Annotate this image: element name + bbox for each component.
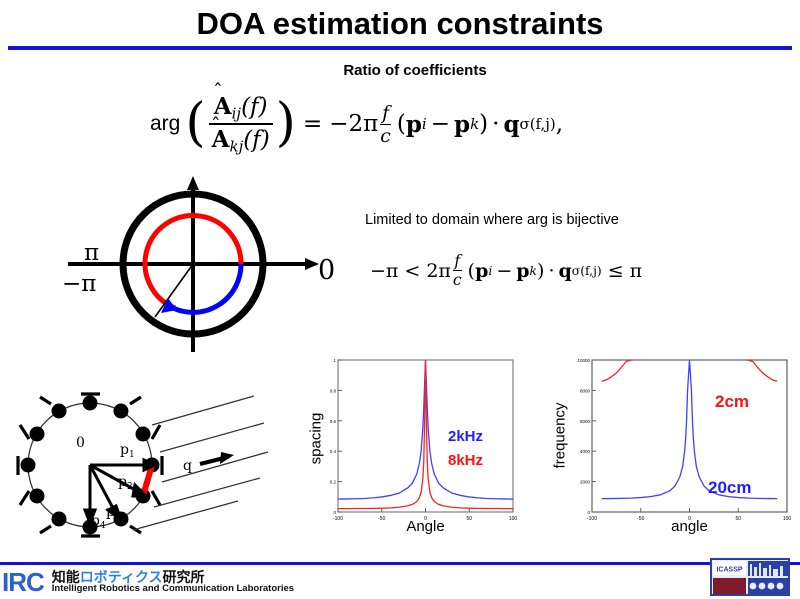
q-symbol: q [503,111,519,138]
negative-phase-arc [173,264,241,312]
frequency-chart: -100-500501000200040006000800010000 angl… [530,352,798,550]
spacing-legend-2khz: 2kHz [448,428,483,445]
p-i-symbol: p [406,111,422,138]
badge-bridge-icon [748,578,788,594]
slide-root: DOA estimation constraints Ratio of coef… [0,0,800,599]
footer-jp-part2: ロボティクス [80,569,163,585]
circle-label-zero: 0 [318,255,335,286]
wave-vector-label: q [183,458,192,474]
footer-jp-part1: 知能 [52,569,80,585]
arg-operator: arg [150,112,180,136]
p-k-subscript-2: k [530,264,537,278]
spacing-legend-8khz: 8kHz [448,452,483,469]
icassp-badge: ICASSP [710,558,790,596]
vector-label-p4: p4 [91,513,106,531]
footer-japanese-name: 知能ロボティクス研究所 [52,570,294,585]
a-hat-ij: ̂ A [214,93,232,120]
spacing-chart-ylabel: spacing [308,379,325,499]
title-divider [8,46,792,50]
denominator-subscript: kj [230,137,244,155]
frequency-chart-ylabel: frequency [552,371,569,501]
vector-minus: − [431,111,450,137]
svg-text:4000: 4000 [580,449,591,454]
wave-direction-arrow [200,452,234,464]
frequency-plot-frame [592,360,787,512]
p-i-subscript: i [422,115,427,133]
section-heading: Ratio of coefficients [285,62,545,79]
p-i-subscript-2: i [488,264,492,278]
less-than-sign: < [404,260,420,282]
close-paren: ) [276,108,296,139]
p-k-symbol-2: p [516,260,529,282]
svg-text:0.4: 0.4 [330,449,337,454]
vector-open: ( [397,111,406,137]
vector-open-2: ( [468,260,475,282]
svg-text:0: 0 [587,510,590,515]
trailing-comma: , [556,111,563,137]
minus-two-pi: −2π [329,111,378,137]
svg-text:8000: 8000 [580,388,591,393]
p-k-subscript: k [470,115,479,133]
vector-close-2: ) [537,260,544,282]
vector-close: ) [479,111,488,137]
equals-sign: = [303,111,322,137]
footer-english-name: Intelligent Robotics and Communication L… [52,584,294,594]
microphone-array-diagram: q 0 p1 p2 p3 p4 [2,392,302,552]
ratio-numerator: ̂ Aij(f) [211,93,271,123]
svg-text:0.6: 0.6 [330,419,337,424]
c-denominator: c [380,124,391,147]
vector-label-p2: p2 [118,474,133,492]
circle-label-pi: π [84,240,99,266]
f-over-c-fraction-2: f c [453,252,462,289]
q-subscript: σ(f,j) [520,115,556,133]
frequency-legend-20cm: 20cm [708,478,751,498]
svg-text:0.2: 0.2 [330,480,337,485]
vertical-axis-arrow [187,176,199,190]
spacing-chart: -100-5005010000.20.40.60.81 Angle spacin… [300,352,525,550]
badge-skyline-icon [748,561,788,576]
main-equation: arg ( ̂ Aij(f) ̂ Akj(f) ) = −2π f c (pi … [150,88,670,160]
upper-bound: π [630,260,643,282]
svg-text:1: 1 [333,358,336,363]
open-paren: ( [185,108,205,139]
ratio-denominator: ̂ Akj(f) [209,123,273,155]
dot-product-operator-2: · [548,260,554,282]
svg-text:10000: 10000 [577,358,590,363]
numerator-argument: (f) [241,94,267,120]
footer-jp-part3: 研究所 [163,569,205,585]
spacing-chart-xlabel: Angle [338,518,513,535]
matrix-a-numerator: A [214,93,232,120]
horizontal-axis-arrow [305,258,319,270]
p-i-symbol-2: p [475,260,488,282]
coefficient-ratio-fraction: ̂ Aij(f) ̂ Akj(f) [209,93,273,156]
svg-text:0.8: 0.8 [330,388,337,393]
footer-logo: IRC 知能ロボティクス研究所 Intelligent Robotics and… [0,565,400,599]
svg-text:6000: 6000 [580,419,591,424]
frequency-chart-xlabel: angle [592,518,787,535]
vector-label-p1: p1 [120,442,135,460]
irc-logo-text: IRC [2,567,44,598]
vector-minus-2: − [496,260,512,282]
bijective-note: Limited to domain where arg is bijective [365,212,619,228]
f-over-c-fraction: f c [380,102,391,147]
q-symbol-2: q [559,260,572,282]
dot-product-operator: · [492,111,499,137]
less-or-equal-sign: ≤ [608,260,624,282]
badge-date-bg [713,578,746,594]
svg-text:2000: 2000 [580,480,591,485]
two-pi: 2π [426,260,451,282]
denominator-argument: (f) [243,127,269,153]
lower-bound: −π [370,260,398,282]
circle-label-minus-pi: −π [62,271,96,297]
f-numerator: f [382,102,389,124]
vector-label-p3: p3 [106,504,121,522]
page-title: DOA estimation constraints [0,4,800,44]
origin-label: 0 [76,435,85,451]
phase-circle-diagram [60,172,360,357]
inequality-equation: −π < 2π f c (pi −pk) ·qσ(f,j) ≤ π [370,252,642,289]
p-k-symbol: p [454,111,470,138]
badge-title-text: ICASSP [716,567,742,574]
svg-text:0: 0 [333,510,336,515]
matrix-a-denominator: A [212,126,230,153]
numerator-subscript: ij [232,104,241,122]
q-subscript-2: σ(f,j) [572,264,602,278]
c-denominator-2: c [453,270,462,289]
frequency-legend-2cm: 2cm [715,392,749,412]
a-hat-kj: ̂ A [212,126,230,153]
f-numerator-2: f [454,252,460,270]
